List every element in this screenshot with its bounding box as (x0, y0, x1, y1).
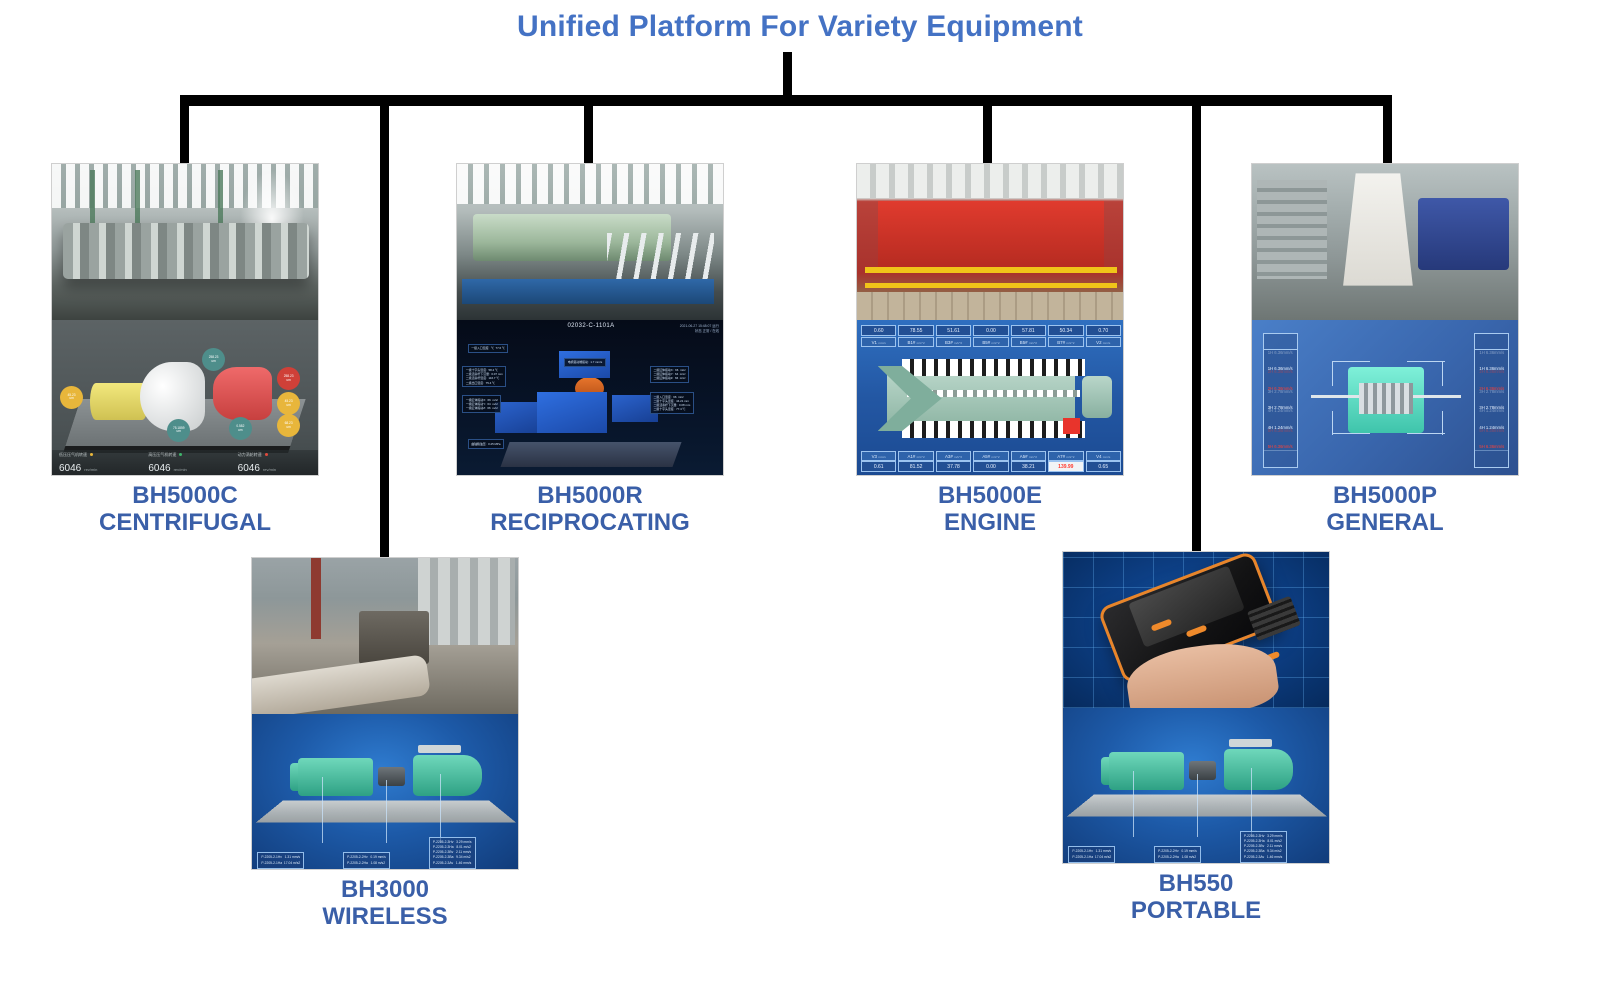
speed-readout: 低压压气机转速 6046rev/min (52, 450, 141, 476)
pump-tag-box: P-2205-2-1Hv 1.31 mm/s P-2205-2-1Ha 17.0… (1068, 846, 1115, 863)
node-bh3000[interactable]: P-2205-2-1Hv 1.31 mm/s P-2205-2-1Ha 17.0… (251, 557, 519, 931)
engine-channel: 57.81B5# m/s^2 (1011, 325, 1046, 347)
hmi-tag: 二级入口温度: 66 m/s² 二级十字头温度: 44.21 mm 二级活塞杆下… (650, 392, 694, 414)
node-bh5000c-label: BH5000C CENTRIFUGAL (51, 483, 319, 537)
engine-channel: A5# m/s^20.00 (973, 450, 1008, 472)
node-type: ENGINE (856, 510, 1124, 537)
hmi-header-status: 2021-06-27 15:48:07 运行 状态 正常 / 在线 (680, 324, 719, 334)
channel-box-bottom-right: 1H 6.36mm/s 2H 6.36mm/s 3H 2.78mm/s 4H 1… (1474, 349, 1509, 468)
engine-channel: A5# m/s^238.21 (1011, 450, 1046, 472)
speed-readout: 高压压气机转速 6046rev/min (141, 450, 230, 476)
hmi-pump-panel-bh550[interactable]: P-2205-2-1Hv 1.31 mm/s P-2205-2-1Ha 17.0… (1063, 708, 1330, 864)
hmi-tag: 一级入口温度: ℃ 77.6 ℃ (468, 344, 509, 353)
engine-channel: 51.61B3# m/s^2 (936, 325, 971, 347)
channel-box-bottom-left: 1H 6.36mm/s 2H 6.36mm/s 3H 2.78mm/s 4H 1… (1263, 349, 1298, 468)
photo-general-machine (1252, 164, 1519, 320)
node-bh5000p-label: BH5000P GENERAL (1251, 483, 1519, 537)
engine-channel: 0.70V2 mm/s (1086, 325, 1121, 347)
engine-channel: 78.55B1# m/s^2 (898, 325, 933, 347)
photo-centrifugal-compressor (52, 164, 319, 320)
node-model: BH3000 (341, 876, 429, 903)
node-model: BH5000P (1333, 482, 1437, 509)
node-bh5000r[interactable]: 02032-C-1101A 2021-06-27 15:48:07 运行 状态 … (456, 163, 724, 537)
node-type: WIRELESS (251, 904, 519, 931)
node-model: BH5000C (132, 482, 237, 509)
node-bh550-label: BH550 PORTABLE (1062, 871, 1330, 925)
node-bh5000e-label: BH5000E ENGINE (856, 483, 1124, 537)
hmi-pump-panel-bh3000[interactable]: P-2205-2-1Hv 1.31 mm/s P-2205-2-1Ha 17.0… (252, 714, 519, 870)
bubble-value: 258.23um (202, 348, 225, 371)
hmi-tag: 二级缸体振动X: 66 m/s² 二级缸体振动Y: 64 m/s² 二级缸体振动… (650, 366, 689, 384)
node-bh5000c[interactable]: 45.23um 258.23um 258.23um 45.23um 68.23u… (51, 163, 319, 537)
photo-gas-engine (857, 164, 1124, 320)
page-title: Unified Platform For Variety Equipment (0, 10, 1600, 44)
connector-bus-horizontal (180, 95, 1392, 106)
connector-drop-bh3000 (380, 95, 389, 557)
alarm-value: 139.99 (1048, 461, 1083, 472)
pump-tag-box: P-2205-2-2Hv 0.19 mm/s P-2205-2-2Ha 1.08… (343, 852, 390, 869)
photo-pump-train (252, 558, 519, 714)
engine-channel-alarm: A7# m/s^2139.99 (1048, 450, 1083, 472)
speed-readout: 动力涡轮转速 6046rev/min (231, 450, 319, 476)
engine-channel: 50.34B7# m/s^2 (1048, 325, 1083, 347)
connector-drop-bh550 (1192, 95, 1201, 551)
connector-drop-bh5000e (983, 95, 992, 163)
pump-tag-box: P-2205-2-1Hv 1.31 mm/s P-2205-2-1Ha 17.0… (257, 852, 304, 869)
engine-schematic (868, 358, 1115, 440)
node-bh550-frame[interactable]: P-2205-2-1Hv 1.31 mm/s P-2205-2-1Ha 17.0… (1062, 551, 1330, 864)
node-model: BH550 (1159, 870, 1234, 897)
engine-channel: V3 mm/s0.61 (861, 450, 896, 472)
engine-channel: V4 mm/s0.65 (1086, 450, 1121, 472)
hmi-tag: 电机驱动端振动: 1.7 mm/s (564, 358, 606, 367)
bubble-value: 68.23um (277, 414, 300, 437)
hmi-engine-panel[interactable]: 0.60V1 mm/s 78.55B1# m/s^2 51.61B3# m/s^… (857, 320, 1124, 476)
connector-trunk-vertical (783, 52, 792, 95)
node-bh5000r-label: BH5000R RECIPROCATING (456, 483, 724, 537)
pump-tag-box: P-2205-2-3Hv 3.29 mm/s P-2205-2-3Ha 8.01… (429, 837, 476, 869)
connector-drop-bh5000r (584, 95, 593, 163)
pump-tag-box: P-2205-2-2Hv 0.19 mm/s P-2205-2-2Ha 1.08… (1154, 846, 1201, 863)
node-bh5000e[interactable]: 0.60V1 mm/s 78.55B1# m/s^2 51.61B3# m/s^… (856, 163, 1124, 537)
node-type: PORTABLE (1062, 898, 1330, 925)
node-bh5000p-frame[interactable]: 1H 6.36mm/s 2H 6.36mm/s 3H 2.78mm/s 4H 1… (1251, 163, 1519, 476)
node-type: CENTRIFUGAL (51, 510, 319, 537)
hmi-reciprocating-3d[interactable]: 02032-C-1101A 2021-06-27 15:48:07 运行 状态 … (457, 320, 724, 476)
bubble-value: 75.1859um (167, 419, 190, 442)
connector-drop-bh5000c (180, 95, 189, 163)
node-model: BH5000E (938, 482, 1042, 509)
bubble-value: 45.23um (60, 386, 83, 409)
node-bh5000e-frame[interactable]: 0.60V1 mm/s 78.55B1# m/s^2 51.61B3# m/s^… (856, 163, 1124, 476)
speed-readout-bar: 低压压气机转速 6046rev/min 高压压气机转速 6046rev/min … (52, 450, 319, 476)
engine-channel: 0.60V1 mm/s (861, 325, 896, 347)
pump-tag-box: P-2205-2-3Hv 3.29 mm/s P-2205-2-3Ha 8.01… (1240, 831, 1287, 863)
connector-drop-bh5000p (1383, 95, 1392, 163)
engine-channel: A1# m/s^281.52 (898, 450, 933, 472)
node-model: BH5000R (537, 482, 642, 509)
node-bh3000-frame[interactable]: P-2205-2-1Hv 1.31 mm/s P-2205-2-1Ha 17.0… (251, 557, 519, 870)
engine-top-row: 0.60V1 mm/s 78.55B1# m/s^2 51.61B3# m/s^… (861, 325, 1121, 347)
engine-channel: 0.00B5# m/s^2 (973, 325, 1008, 347)
hmi-tag: 一级缸体振动X: 66 m/s² 一级缸体振动Y: 64 m/s² 一级缸体振动… (462, 395, 501, 413)
engine-bottom-row: V3 mm/s0.61 A1# m/s^281.52 A3# m/s^237.7… (861, 450, 1121, 472)
hmi-tag: 一级十字头温度: 58.4 ℃ 二级活塞杆下沉量: 0.07 mm 二级活塞杆温… (462, 366, 506, 388)
hmi-general-panel[interactable]: 1H 6.36mm/s 2H 6.36mm/s 3H 2.78mm/s 4H 1… (1252, 320, 1519, 476)
hmi-centrifugal-3d[interactable]: 45.23um 258.23um 258.23um 45.23um 68.23u… (52, 320, 319, 476)
node-type: RECIPROCATING (456, 510, 724, 537)
photo-reciprocating-compressor (457, 164, 724, 320)
photo-handheld-collector (1063, 552, 1330, 708)
node-bh550[interactable]: P-2205-2-1Hv 1.31 mm/s P-2205-2-1Ha 17.0… (1062, 551, 1330, 925)
node-bh3000-label: BH3000 WIRELESS (251, 877, 519, 931)
node-bh5000p[interactable]: 1H 6.36mm/s 2H 6.36mm/s 3H 2.78mm/s 4H 1… (1251, 163, 1519, 537)
bubble-value: 258.23um (277, 367, 300, 390)
hmi-tag: 曲轴箱油压: 0.25 MPa (468, 439, 504, 448)
node-type: GENERAL (1251, 510, 1519, 537)
engine-channel: A3# m/s^237.78 (936, 450, 971, 472)
node-bh5000c-frame[interactable]: 45.23um 258.23um 258.23um 45.23um 68.23u… (51, 163, 319, 476)
node-bh5000r-frame[interactable]: 02032-C-1101A 2021-06-27 15:48:07 运行 状态 … (456, 163, 724, 476)
